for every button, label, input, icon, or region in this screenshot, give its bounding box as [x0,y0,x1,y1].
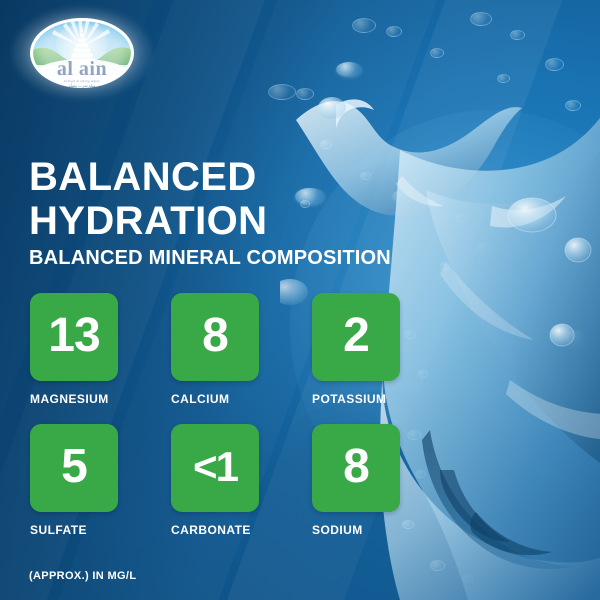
page-title: BALANCED HYDRATION [29,155,267,243]
mineral-cell-sulfate: 5 SULFATE [30,424,118,537]
mineral-value-magnesium: 13 [48,312,99,360]
mineral-cell-potassium: 2 POTASSIUM [312,293,400,406]
mineral-value-calcium: 8 [202,312,228,360]
mineral-grid: 13 MAGNESIUM 8 CALCIUM 2 POTASSIUM 5 [30,293,430,555]
mineral-cell-sodium: 8 SODIUM [312,424,400,537]
mineral-value-carbonate: <1 [193,446,237,488]
mineral-chip-potassium: 2 [312,293,400,381]
al-ain-logo: al ain bottled drinking water مياه شرب م… [26,17,138,89]
mineral-label-potassium: POTASSIUM [312,392,400,406]
mineral-chip-calcium: 8 [171,293,259,381]
mineral-row-2: 5 SULFATE <1 CARBONATE 8 SODIUM [30,424,430,537]
page-subtitle: BALANCED MINERAL COMPOSITION [29,247,391,270]
mineral-chip-sulfate: 5 [30,424,118,512]
mineral-label-carbonate: CARBONATE [171,523,259,537]
mineral-chip-carbonate: <1 [171,424,259,512]
headline-line-2: HYDRATION [29,199,267,243]
mineral-label-calcium: CALCIUM [171,392,259,406]
mineral-row-1: 13 MAGNESIUM 8 CALCIUM 2 POTASSIUM [30,293,430,406]
mineral-cell-carbonate: <1 CARBONATE [171,424,259,537]
logo-glow [12,7,152,99]
mineral-value-sulfate: 5 [61,443,87,491]
poster-canvas: al ain bottled drinking water مياه شرب م… [0,0,600,600]
mineral-value-sodium: 8 [343,443,369,491]
mineral-chip-sodium: 8 [312,424,400,512]
mineral-cell-calcium: 8 CALCIUM [171,293,259,406]
headline-line-1: BALANCED [29,155,257,199]
mineral-chip-magnesium: 13 [30,293,118,381]
mineral-cell-magnesium: 13 MAGNESIUM [30,293,118,406]
mineral-label-magnesium: MAGNESIUM [30,392,118,406]
mineral-label-sulfate: SULFATE [30,523,118,537]
units-footnote: (APPROX.) IN MG/L [29,570,136,582]
mineral-value-potassium: 2 [343,312,369,360]
mineral-label-sodium: SODIUM [312,523,400,537]
